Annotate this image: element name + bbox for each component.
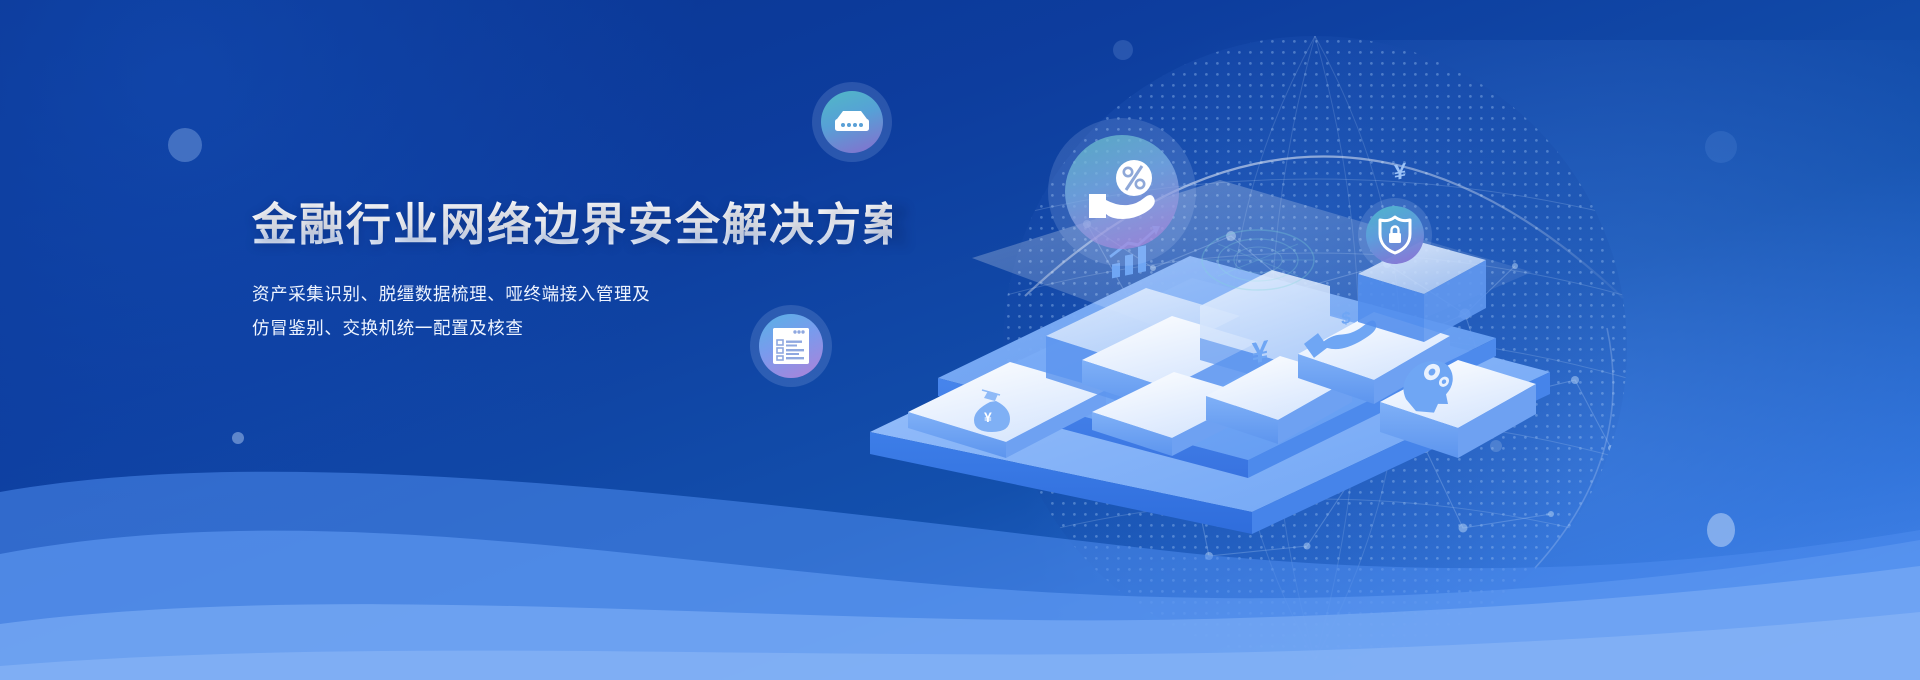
yuan-symbol: ¥ (1252, 335, 1269, 371)
shield-lock-icon (1377, 215, 1413, 255)
wave-decoration (0, 380, 1920, 680)
percent-hand-icon (1083, 158, 1161, 226)
decor-dot-2 (1705, 131, 1737, 163)
hero-banner: ¥ (0, 0, 1920, 680)
decor-dot-1 (168, 128, 202, 162)
document-checklist-icon (770, 325, 812, 367)
badge-shield-lock[interactable] (1358, 198, 1432, 272)
hero-copy: 金融行业网络边界安全解决方案 资产采集识别、脱缰数据梳理、哑终端接入管理及 仿冒… (252, 198, 892, 345)
subtitle-line-1: 资产采集识别、脱缰数据梳理、哑终端接入管理及 (252, 277, 892, 311)
router-switch-icon (830, 108, 874, 136)
badge-percent-hand[interactable] (1048, 118, 1196, 266)
page-title: 金融行业网络边界安全解决方案 (252, 198, 892, 251)
yuan-block-symbol: ¥ (1394, 158, 1407, 185)
svg-text:$: $ (1341, 307, 1351, 329)
badge-router-switch[interactable] (812, 82, 892, 162)
radar-ring (1202, 230, 1314, 290)
